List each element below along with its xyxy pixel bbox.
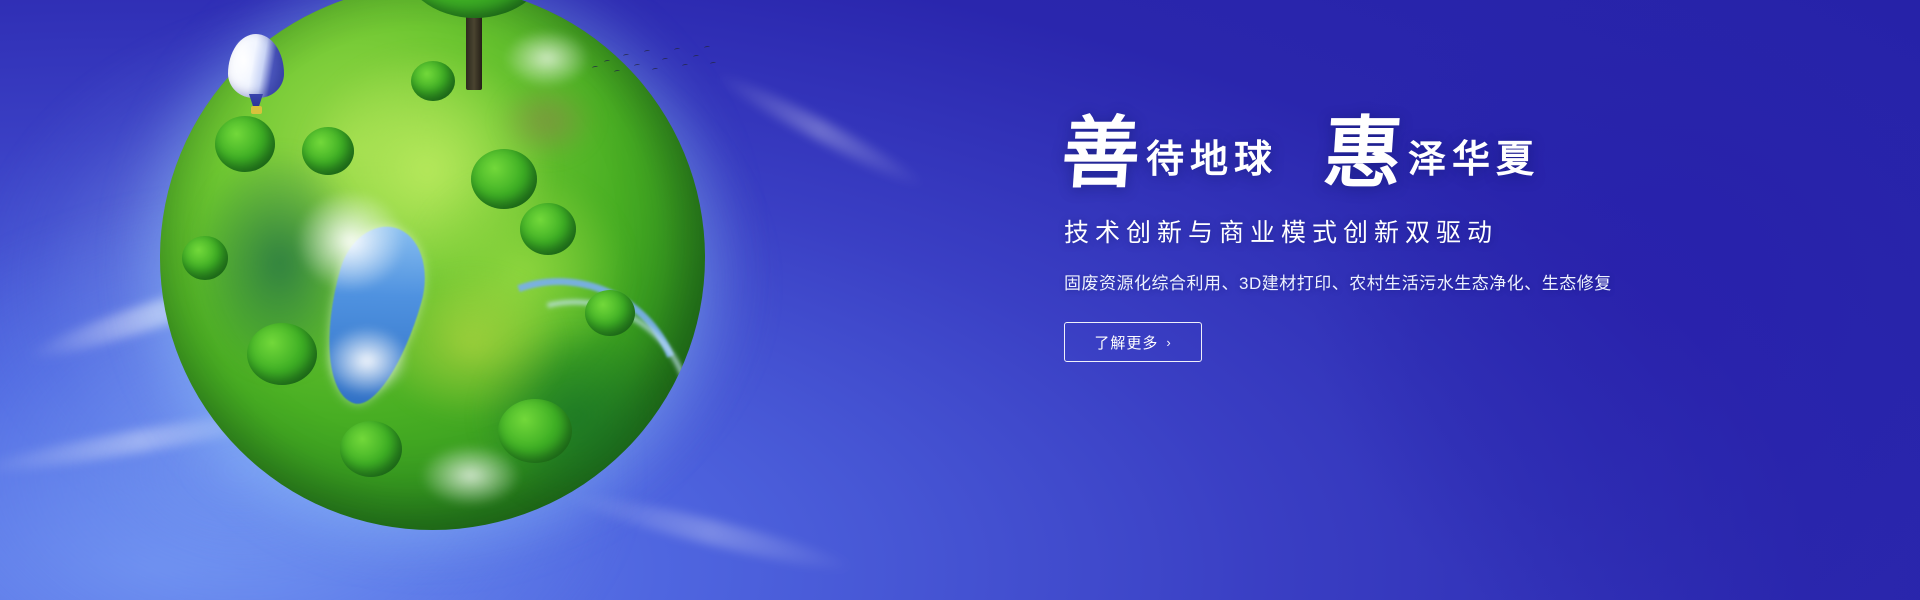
cloud-wisp bbox=[562, 484, 859, 580]
hero-content: 善 待地球 惠 泽华夏 技术创新与商业模式创新双驱动 固废资源化综合利用、3D建… bbox=[1062, 120, 1762, 362]
learn-more-button[interactable]: 了解更多 › bbox=[1064, 322, 1202, 362]
tree-icon bbox=[215, 116, 275, 172]
sky-glow-bottom-left bbox=[0, 120, 740, 600]
planet-cloud bbox=[487, 18, 607, 100]
planet-cloud bbox=[307, 312, 427, 410]
hero-banner: 善 待地球 惠 泽华夏 技术创新与商业模式创新双驱动 固废资源化综合利用、3D建… bbox=[0, 0, 1920, 600]
tree-icon bbox=[247, 323, 317, 385]
cloud-wisp bbox=[23, 257, 297, 368]
page-title: 善 待地球 惠 泽华夏 bbox=[1062, 120, 1762, 187]
hot-air-balloon-icon bbox=[228, 34, 284, 120]
chevron-right-icon: › bbox=[1166, 336, 1171, 349]
tree-icon bbox=[585, 290, 635, 336]
tree-icon bbox=[471, 149, 537, 209]
headline-accent-char-2: 惠 bbox=[1322, 120, 1405, 187]
headline-group-1: 善 待地球 bbox=[1062, 120, 1278, 187]
tree-icon bbox=[520, 203, 576, 255]
headline-rest-1: 待地球 bbox=[1146, 141, 1278, 187]
headline-rest-2: 泽华夏 bbox=[1408, 141, 1540, 187]
lake-shore bbox=[295, 225, 446, 432]
sky-glow-left bbox=[0, 0, 980, 600]
hero-description: 固废资源化综合利用、3D建材打印、农村生活污水生态净化、生态修复 bbox=[1064, 271, 1762, 297]
hero-subtitle: 技术创新与商业模式创新双驱动 bbox=[1064, 217, 1762, 251]
planet-cloud bbox=[274, 170, 427, 312]
headline-group-2: 惠 泽华夏 bbox=[1324, 120, 1540, 187]
lake-icon bbox=[306, 216, 439, 413]
tree-icon bbox=[182, 236, 228, 280]
learn-more-label: 了解更多 bbox=[1094, 332, 1158, 353]
tree-icon bbox=[340, 421, 402, 477]
cloud-wisp bbox=[709, 65, 930, 195]
headline-accent-char-1: 善 bbox=[1060, 120, 1143, 187]
tree-icon bbox=[302, 127, 354, 175]
river-icon bbox=[407, 240, 705, 530]
tree-icon bbox=[498, 399, 572, 463]
cloud-wisp bbox=[0, 401, 309, 482]
tree-icon bbox=[411, 61, 455, 101]
large-tree-icon bbox=[400, 0, 550, 88]
planet-cloud bbox=[400, 432, 542, 519]
cloud-swirl-icon bbox=[60, 0, 960, 600]
river-highlight bbox=[426, 258, 705, 530]
bird-flock-icon bbox=[590, 44, 720, 90]
